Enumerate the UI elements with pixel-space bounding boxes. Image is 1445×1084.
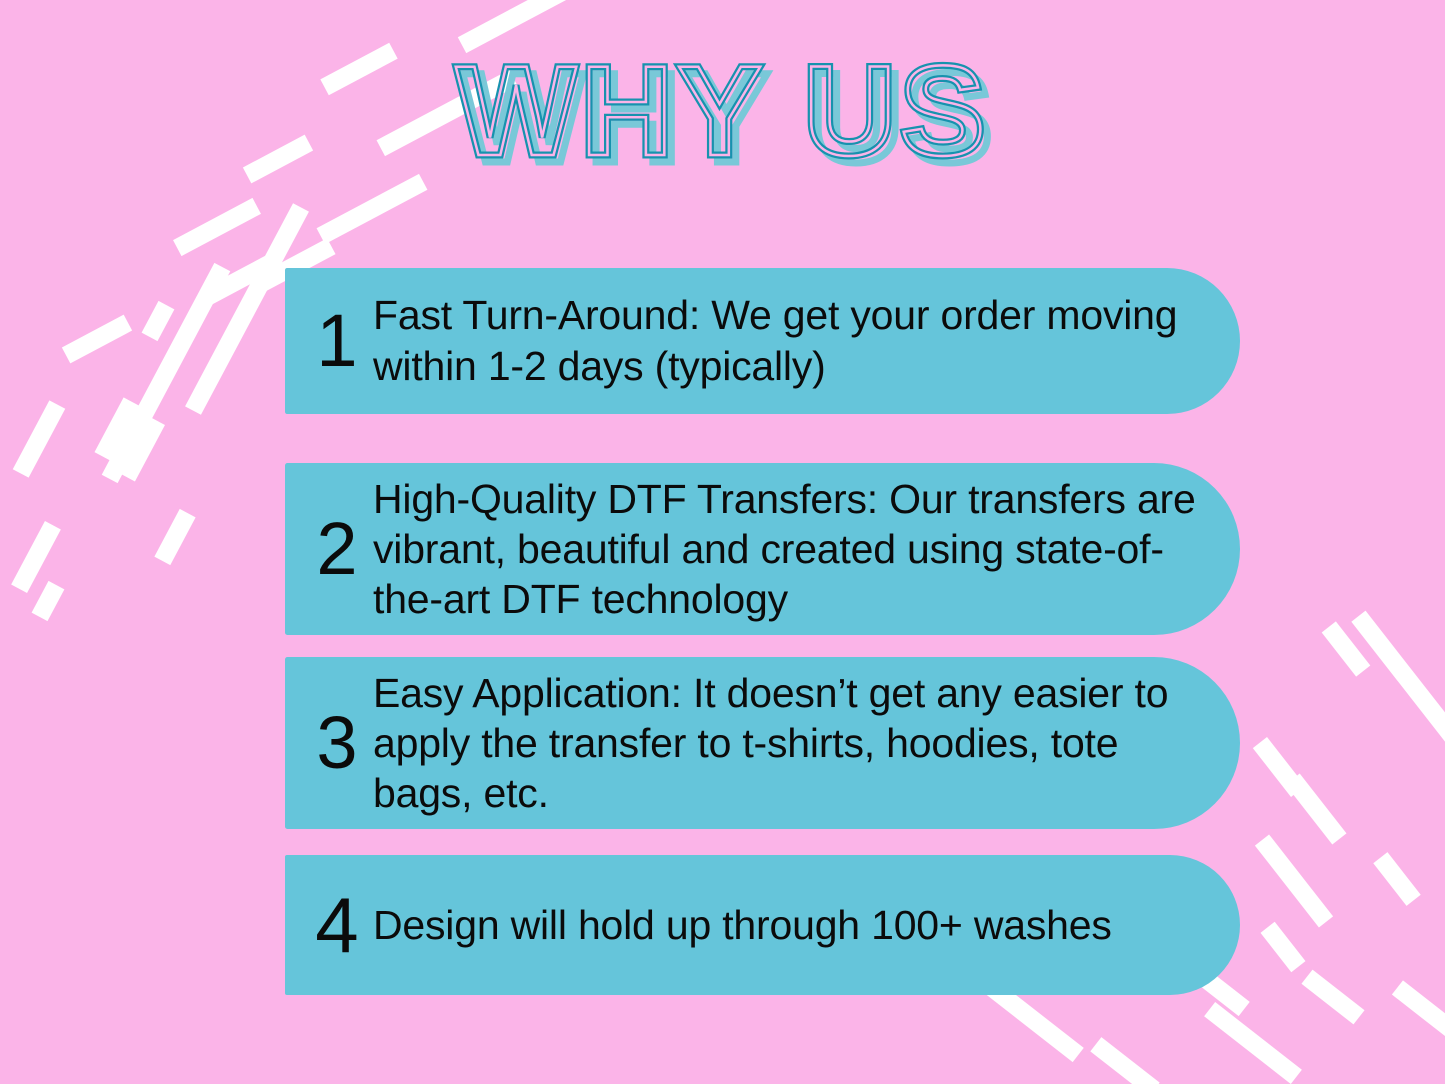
list-item-text: High-Quality DTF Transfers: Our transfer…	[373, 474, 1240, 624]
list-item-number: 4	[301, 888, 373, 962]
decorative-dash	[32, 581, 65, 621]
poster-canvas: WHY US WHY US WHY US 1 Fast Turn-Around:…	[0, 0, 1445, 1084]
decorative-dash	[62, 315, 132, 364]
decorative-dash	[13, 400, 66, 477]
list-item-number: 2	[301, 512, 373, 586]
decorative-dash	[1351, 611, 1445, 780]
decorative-dash	[1392, 980, 1445, 1037]
decorative-dash	[11, 521, 61, 593]
decorative-dash	[1322, 621, 1371, 676]
decorative-dash	[119, 417, 165, 482]
decorative-dash	[173, 198, 261, 256]
page-title: WHY US WHY US WHY US	[0, 42, 1445, 182]
list-item-text: Design will hold up through 100+ washes	[373, 900, 1240, 950]
list-item-text: Easy Application: It doesn’t get any eas…	[373, 668, 1240, 818]
decorative-dash	[94, 397, 139, 460]
decorative-dash	[1261, 922, 1306, 972]
list-item-text: Fast Turn-Around: We get your order movi…	[373, 290, 1240, 392]
decorative-dash	[1090, 1037, 1159, 1084]
title-inner-layer: WHY US	[0, 42, 1445, 182]
decorative-dash	[1253, 737, 1305, 797]
decorative-dash	[154, 509, 195, 565]
decorative-dash	[1286, 774, 1347, 845]
list-item: 1 Fast Turn-Around: We get your order mo…	[285, 268, 1240, 414]
decorative-dash	[102, 263, 231, 483]
decorative-dash	[200, 256, 274, 307]
decorative-dash	[1301, 970, 1364, 1025]
list-item: 3 Easy Application: It doesn’t get any e…	[285, 657, 1240, 829]
list-item-number: 3	[301, 706, 373, 780]
decorative-dash	[142, 301, 175, 341]
decorative-dash	[1373, 852, 1420, 906]
list-item-number: 1	[301, 304, 373, 378]
decorative-dash	[1255, 834, 1333, 927]
decorative-dash	[1204, 1002, 1302, 1084]
list-item: 4 Design will hold up through 100+ washe…	[285, 855, 1240, 995]
list-item: 2 High-Quality DTF Transfers: Our transf…	[285, 463, 1240, 635]
